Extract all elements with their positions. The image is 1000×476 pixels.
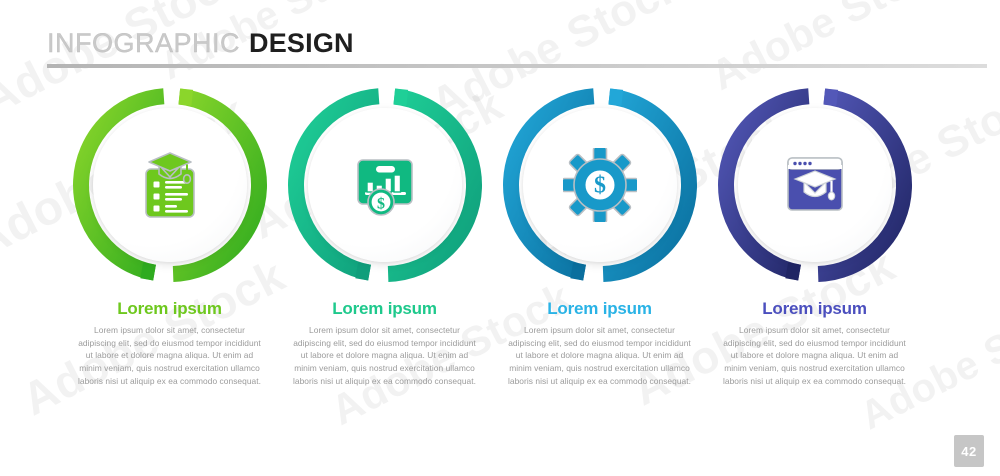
- column-heading: Lorem ipsum: [75, 300, 265, 318]
- column-heading: Lorem ipsum: [505, 300, 695, 318]
- page-title: INFOGRAPHIC DESIGN: [47, 28, 354, 59]
- column-body: Lorem ipsum dolor sit amet, consectetur …: [720, 324, 910, 388]
- infographic-columns: Lorem ipsum Lorem ipsum dolor sit amet, …: [0, 84, 1000, 414]
- column-heading: Lorem ipsum: [720, 300, 910, 318]
- column-text-3: Lorem ipsum Lorem ipsum dolor sit amet, …: [505, 300, 695, 388]
- infographic-column-2: $ Lorem ipsum Lorem ipsum dolor sit amet…: [277, 84, 492, 414]
- svg-text:$: $: [377, 195, 385, 212]
- infographic-column-3: $ Lorem ipsum Lorem ipsum dolor sit amet…: [492, 84, 707, 414]
- column-body: Lorem ipsum dolor sit amet, consectetur …: [290, 324, 480, 388]
- column-text-1: Lorem ipsum Lorem ipsum dolor sit amet, …: [75, 300, 265, 388]
- icon-ring-1[interactable]: [69, 84, 271, 286]
- presentation-board-bar-chart-dollar-icon: $: [350, 150, 420, 220]
- browser-window-graduation-cap-icon: [780, 152, 850, 218]
- gear-dollar-icon[interactable]: $: [523, 108, 677, 262]
- title-word-design: DESIGN: [249, 28, 354, 59]
- icon-ring-2[interactable]: $: [284, 84, 486, 286]
- exam-clipboard-graduation-cap-icon: [137, 149, 203, 221]
- icon-ring-3[interactable]: $: [499, 84, 701, 286]
- browser-window-graduation-cap-icon[interactable]: [738, 108, 892, 262]
- status-badge: 42: [954, 435, 984, 467]
- svg-text:$: $: [594, 173, 606, 199]
- infographic-column-4: Lorem ipsum Lorem ipsum dolor sit amet, …: [707, 84, 922, 414]
- column-heading: Lorem ipsum: [290, 300, 480, 318]
- column-body: Lorem ipsum dolor sit amet, consectetur …: [505, 324, 695, 388]
- gear-dollar-icon: $: [563, 148, 637, 222]
- infographic-column-1: Lorem ipsum Lorem ipsum dolor sit amet, …: [62, 84, 277, 414]
- column-text-2: Lorem ipsum Lorem ipsum dolor sit amet, …: [290, 300, 480, 388]
- column-body: Lorem ipsum dolor sit amet, consectetur …: [75, 324, 265, 388]
- title-divider: [47, 64, 987, 68]
- presentation-board-bar-chart-dollar-icon[interactable]: $: [308, 108, 462, 262]
- exam-clipboard-graduation-cap-icon[interactable]: [93, 108, 247, 262]
- title-word-infographic: INFOGRAPHIC: [47, 28, 240, 59]
- icon-ring-4[interactable]: [714, 84, 916, 286]
- column-text-4: Lorem ipsum Lorem ipsum dolor sit amet, …: [720, 300, 910, 388]
